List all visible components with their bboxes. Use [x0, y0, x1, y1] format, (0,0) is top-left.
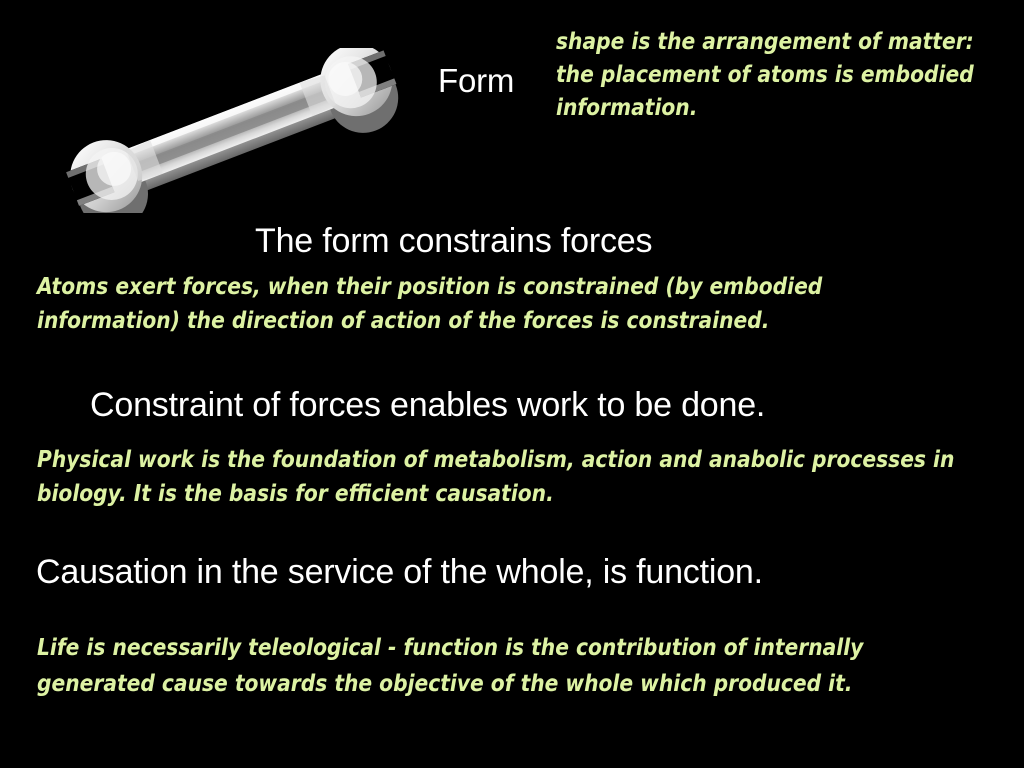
section-body-3: Life is necessarily teleological - funct… — [37, 630, 983, 702]
form-label: Form — [438, 62, 514, 100]
section-body-2: Physical work is the foundation of metab… — [37, 443, 970, 511]
presentation-slide: Form shape is the arrangement of matter:… — [0, 0, 1024, 768]
wrench-illustration — [42, 48, 422, 213]
section-heading-3: Causation in the service of the whole, i… — [36, 553, 763, 592]
intro-text: shape is the arrangement of matter: the … — [556, 26, 1014, 125]
section-heading-1: The form constrains forces — [255, 222, 652, 261]
section-heading-2: Constraint of forces enables work to be … — [90, 386, 765, 425]
section-body-1: Atoms exert forces, when their position … — [37, 270, 970, 338]
wrench-icon — [42, 48, 422, 213]
